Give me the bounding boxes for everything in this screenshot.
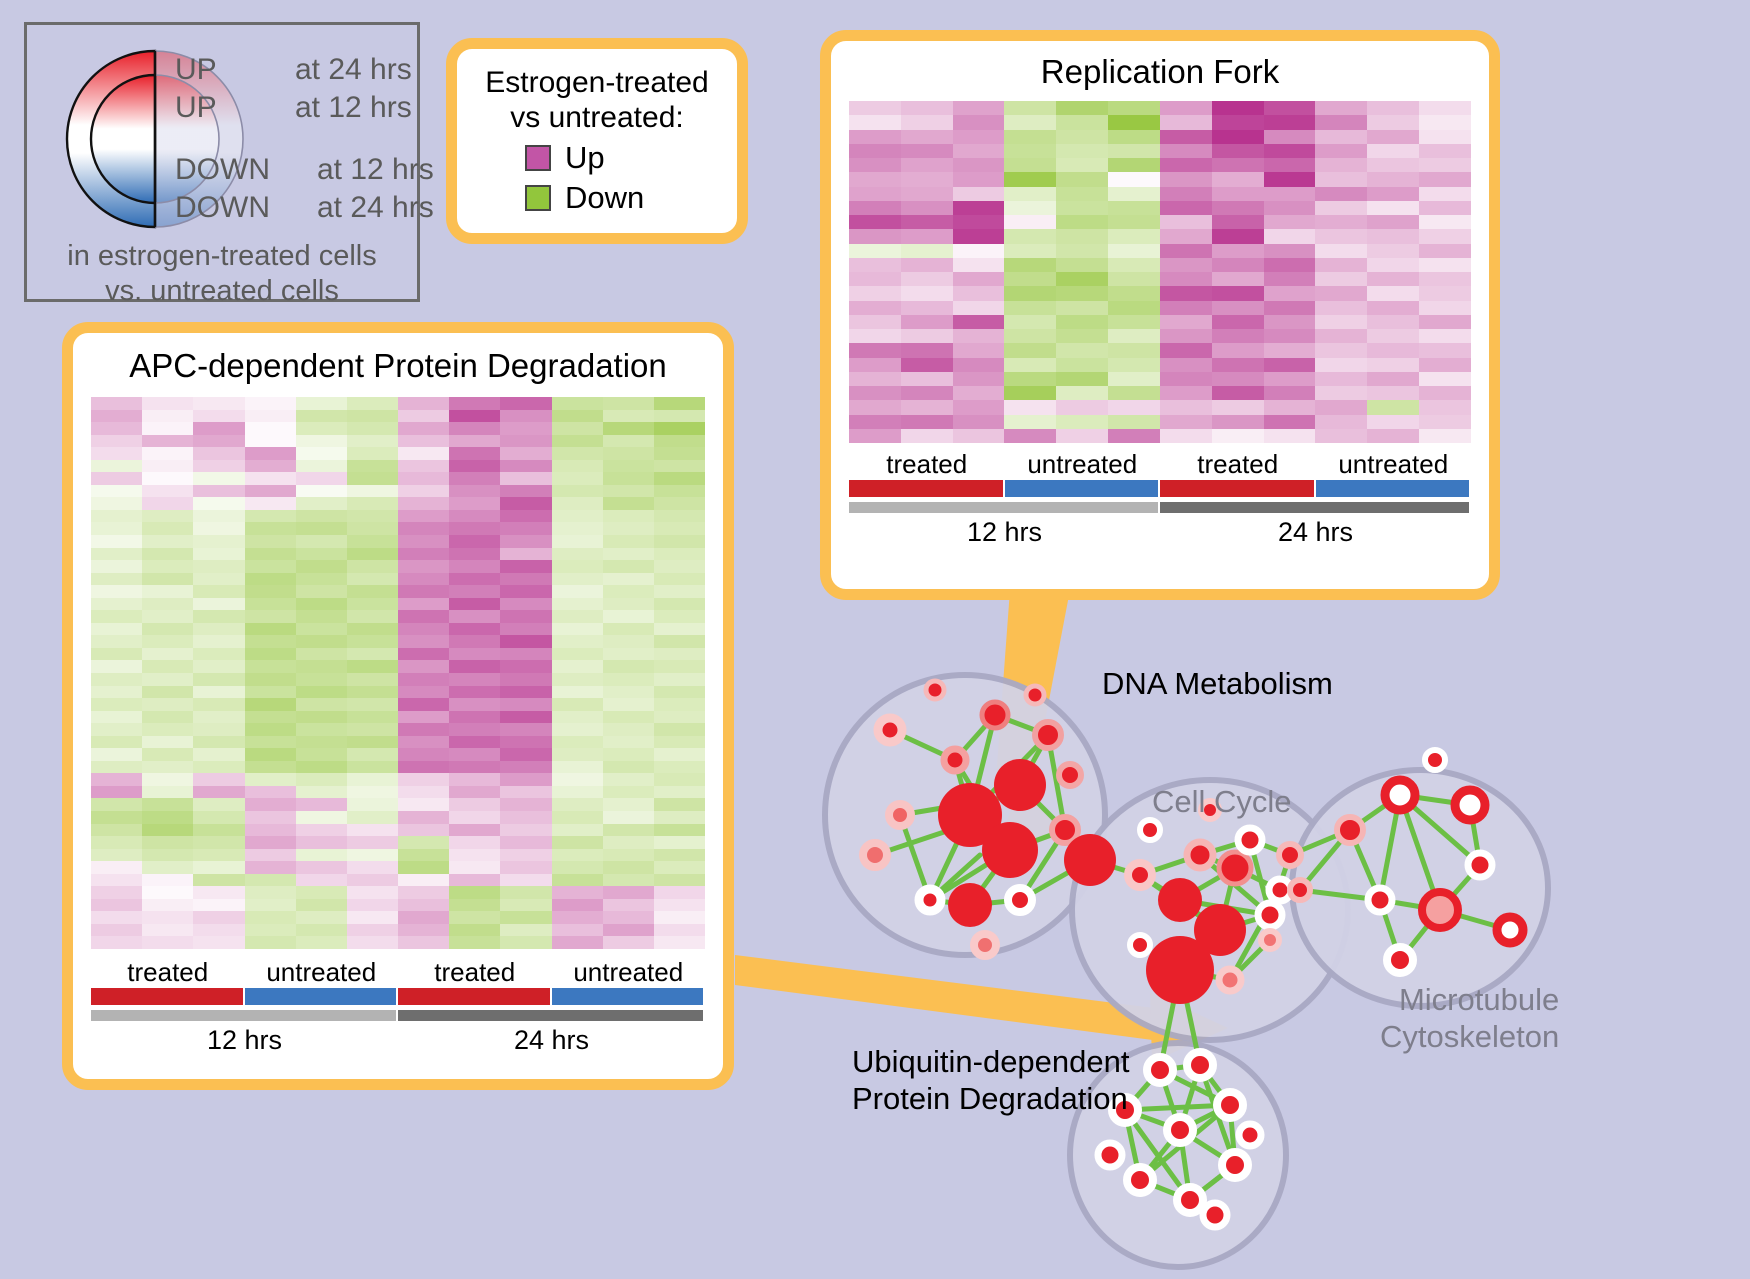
heatmap-cell xyxy=(245,886,296,899)
replication-fork-title: Replication Fork xyxy=(849,53,1471,91)
heatmap-cell xyxy=(193,861,244,874)
heatmap-cell xyxy=(91,811,142,824)
heatmap-cell xyxy=(1212,358,1264,372)
heatmap-cell xyxy=(1419,329,1471,343)
heatmap-cell xyxy=(901,429,953,443)
heatmap-cell xyxy=(142,861,193,874)
heatmap-cell xyxy=(1419,258,1471,272)
heatmap-cell xyxy=(1264,272,1316,286)
heatmap-cell xyxy=(1212,272,1264,286)
heatmap-cell xyxy=(398,435,449,448)
heatmap-cell xyxy=(347,472,398,485)
heatmap-cell xyxy=(654,585,705,598)
heatmap-cell xyxy=(347,673,398,686)
heatmap-cell xyxy=(142,773,193,786)
heatmap-cell xyxy=(1264,130,1316,144)
heatmap-cell xyxy=(654,460,705,473)
heatmap-cell xyxy=(449,773,500,786)
network-node xyxy=(1177,1187,1203,1213)
heatmap-cell xyxy=(347,548,398,561)
sample-label: treated xyxy=(849,449,1005,480)
heatmap-cell xyxy=(193,435,244,448)
cluster-microtubule xyxy=(1292,770,1548,1006)
heatmap-cell xyxy=(347,736,398,749)
heatmap-cell xyxy=(449,861,500,874)
heatmap-cell xyxy=(552,560,603,573)
heatmap-cell xyxy=(91,560,142,573)
heatmap-cell xyxy=(398,610,449,623)
heatmap-cell xyxy=(1160,172,1212,186)
network-node xyxy=(889,804,911,826)
heatmap-cell xyxy=(1160,101,1212,115)
heatmap-cell xyxy=(142,522,193,535)
heatmap-cell xyxy=(500,874,551,887)
heatmap-cell xyxy=(500,648,551,661)
heatmap-cell xyxy=(91,861,142,874)
heatmap-cell xyxy=(1160,343,1212,357)
heatmap-cell xyxy=(654,836,705,849)
heatmap-cell xyxy=(296,447,347,460)
heatmap-cell xyxy=(1419,400,1471,414)
heatmap-cell xyxy=(449,485,500,498)
sample-label: untreated xyxy=(552,957,706,988)
heatmap-cell xyxy=(1160,130,1212,144)
legend-label-down: Down xyxy=(565,180,644,216)
heatmap-cell xyxy=(449,397,500,410)
heatmap-cell xyxy=(603,610,654,623)
heatmap-cell xyxy=(245,924,296,937)
heatmap-cell xyxy=(91,899,142,912)
heatmap-cell xyxy=(245,422,296,435)
heatmap-cell xyxy=(91,447,142,460)
heatmap-cell xyxy=(245,686,296,699)
heatmap-cell xyxy=(398,798,449,811)
heatmap-cell xyxy=(1212,130,1264,144)
heatmap-cell xyxy=(1212,258,1264,272)
heatmap-cell xyxy=(296,560,347,573)
heatmap-cell xyxy=(603,623,654,636)
heatmap-cell xyxy=(552,899,603,912)
heatmap-cell xyxy=(1367,172,1419,186)
heatmap-cell xyxy=(245,711,296,724)
network-node xyxy=(1059,764,1081,786)
heatmap-cell xyxy=(1212,400,1264,414)
heatmap-cell xyxy=(245,773,296,786)
heatmap-cell xyxy=(1264,258,1316,272)
heatmap-cell xyxy=(1315,301,1367,315)
heatmap-cell xyxy=(449,711,500,724)
heatmap-cell xyxy=(1212,201,1264,215)
heatmap-cell xyxy=(1419,172,1471,186)
heatmap-cell xyxy=(849,244,901,258)
heatmap-cell xyxy=(91,836,142,849)
heatmap-cell xyxy=(552,485,603,498)
heatmap-cell xyxy=(849,315,901,329)
heatmap-cell xyxy=(1212,415,1264,429)
network-node xyxy=(1222,1152,1248,1178)
heatmap-cell xyxy=(1367,101,1419,115)
legend-item-down: Down xyxy=(457,180,737,216)
heatmap-cell xyxy=(603,686,654,699)
heatmap-cell xyxy=(552,460,603,473)
heatmap-cell xyxy=(245,861,296,874)
network-node xyxy=(1337,817,1363,843)
heatmap-cell xyxy=(901,158,953,172)
heatmap-cell xyxy=(245,761,296,774)
heatmap-cell xyxy=(500,510,551,523)
key-direction-2: DOWN xyxy=(175,153,270,187)
heatmap-cell xyxy=(500,560,551,573)
heatmap-cell xyxy=(654,648,705,661)
heatmap-cell xyxy=(398,447,449,460)
heatmap-cell xyxy=(449,698,500,711)
heatmap-cell xyxy=(1315,115,1367,129)
heatmap-cell xyxy=(296,911,347,924)
heatmap-cell xyxy=(91,422,142,435)
heatmap-cell xyxy=(449,723,500,736)
heatmap-cell xyxy=(347,698,398,711)
heatmap-cell xyxy=(552,510,603,523)
heatmap-cell xyxy=(552,824,603,837)
heatmap-cell xyxy=(849,358,901,372)
heatmap-cell xyxy=(142,598,193,611)
heatmap-cell xyxy=(347,497,398,510)
heatmap-cell xyxy=(552,874,603,887)
key-direction-3: DOWN xyxy=(175,191,270,225)
network-node xyxy=(1290,880,1310,900)
heatmap-cell xyxy=(1108,386,1160,400)
network-node xyxy=(1217,1092,1243,1118)
network-node xyxy=(948,883,992,927)
replication-fork-time-labels: 12 hrs24 hrs xyxy=(849,517,1471,548)
heatmap-cell xyxy=(347,861,398,874)
heatmap-cell xyxy=(1056,301,1108,315)
network-node xyxy=(982,822,1038,878)
network-node xyxy=(1187,842,1213,868)
heatmap-cell xyxy=(1367,115,1419,129)
heatmap-cell xyxy=(91,472,142,485)
heatmap-cell xyxy=(398,497,449,510)
heatmap-cell xyxy=(603,861,654,874)
heatmap-cell xyxy=(1056,415,1108,429)
heatmap-cell xyxy=(849,329,901,343)
heatmap-cell xyxy=(142,874,193,887)
heatmap-cell xyxy=(1264,215,1316,229)
heatmap-cell xyxy=(398,811,449,824)
heatmap-cell xyxy=(142,836,193,849)
legend-title-line1: Estrogen-treated xyxy=(467,65,727,100)
heatmap-cell xyxy=(91,460,142,473)
network-node xyxy=(1052,817,1078,843)
heatmap-cell xyxy=(654,422,705,435)
heatmap-cell xyxy=(91,660,142,673)
heatmap-cell xyxy=(552,660,603,673)
heatmap-cell xyxy=(347,535,398,548)
heatmap-cell xyxy=(500,460,551,473)
heatmap-cell xyxy=(1264,229,1316,243)
heatmap-cell xyxy=(1056,372,1108,386)
heatmap-cell xyxy=(142,849,193,862)
heatmap-cell xyxy=(193,811,244,824)
heatmap-cell xyxy=(1056,201,1108,215)
heatmap-cell xyxy=(1056,187,1108,201)
heatmap-cell xyxy=(347,635,398,648)
heatmap-cell xyxy=(193,472,244,485)
heatmap-cell xyxy=(500,861,551,874)
heatmap-cell xyxy=(91,485,142,498)
heatmap-cell xyxy=(1419,215,1471,229)
legend-item-up: Up xyxy=(457,140,737,176)
heatmap-cell xyxy=(1160,229,1212,243)
heatmap-cell xyxy=(1212,286,1264,300)
heatmap-cell xyxy=(654,899,705,912)
replication-fork-heatmap xyxy=(849,101,1471,443)
heatmap-cell xyxy=(296,723,347,736)
heatmap-cell xyxy=(1315,329,1367,343)
heatmap-cell xyxy=(296,610,347,623)
heatmap-cell xyxy=(1056,158,1108,172)
heatmap-cell xyxy=(347,485,398,498)
heatmap-cell xyxy=(296,435,347,448)
heatmap-cell xyxy=(500,886,551,899)
network-node xyxy=(974,934,996,956)
heatmap-cell xyxy=(1264,187,1316,201)
heatmap-cell xyxy=(1419,130,1471,144)
heatmap-cell xyxy=(500,773,551,786)
heatmap-cell xyxy=(654,686,705,699)
heatmap-cell xyxy=(1264,315,1316,329)
heatmap-cell xyxy=(1367,329,1419,343)
heatmap-cell xyxy=(1160,358,1212,372)
heatmap-cell xyxy=(245,899,296,912)
heatmap-cell xyxy=(603,585,654,598)
heatmap-cell xyxy=(654,635,705,648)
heatmap-cell xyxy=(603,397,654,410)
heatmap-cell xyxy=(193,648,244,661)
heatmap-cell xyxy=(1419,386,1471,400)
heatmap-cell xyxy=(654,773,705,786)
heatmap-cell xyxy=(1315,372,1367,386)
key-time-0: at 24 hrs xyxy=(295,53,412,87)
heatmap-cell xyxy=(654,924,705,937)
heatmap-cell xyxy=(296,899,347,912)
heatmap-cell xyxy=(1056,329,1108,343)
heatmap-cell xyxy=(1367,201,1419,215)
heatmap-cell xyxy=(901,400,953,414)
heatmap-cell xyxy=(142,548,193,561)
heatmap-cell xyxy=(552,886,603,899)
heatmap-cell xyxy=(1004,315,1056,329)
cluster-label-ubiquitin-dependent-protein-degradation: Ubiquitin-dependent Protein Degradation xyxy=(852,1043,1130,1117)
heatmap-cell xyxy=(449,410,500,423)
legend-swatch-up xyxy=(525,145,551,171)
heatmap-cell xyxy=(654,522,705,535)
heatmap-cell xyxy=(91,798,142,811)
heatmap-cell xyxy=(193,548,244,561)
heatmap-cell xyxy=(91,435,142,448)
replication-fork-time-bar xyxy=(849,502,1471,513)
heatmap-cell xyxy=(1212,329,1264,343)
heatmap-cell xyxy=(347,748,398,761)
heatmap-cell xyxy=(1212,101,1264,115)
heatmap-cell xyxy=(449,824,500,837)
heatmap-cell xyxy=(296,836,347,849)
heatmap-cell xyxy=(347,610,398,623)
heatmap-cell xyxy=(1004,101,1056,115)
heatmap-cell xyxy=(91,522,142,535)
heatmap-cell xyxy=(142,798,193,811)
heatmap-cell xyxy=(1056,144,1108,158)
heatmap-cell xyxy=(1264,372,1316,386)
heatmap-cell xyxy=(193,849,244,862)
heatmap-cell xyxy=(849,415,901,429)
heatmap-cell xyxy=(849,158,901,172)
heatmap-cell xyxy=(1160,244,1212,258)
heatmap-cell xyxy=(552,748,603,761)
heatmap-cell xyxy=(398,936,449,949)
heatmap-cell xyxy=(654,510,705,523)
heatmap-cell xyxy=(901,301,953,315)
treatment-color-segment xyxy=(398,988,552,1005)
heatmap-cell xyxy=(245,911,296,924)
heatmap-cell xyxy=(1004,187,1056,201)
heatmap-cell xyxy=(91,623,142,636)
heatmap-cell xyxy=(552,535,603,548)
heatmap-cell xyxy=(1108,429,1160,443)
heatmap-cell xyxy=(953,400,1005,414)
apc-degradation-sample-labels: treateduntreatedtreateduntreated xyxy=(91,957,705,988)
heatmap-cell xyxy=(1160,115,1212,129)
time-color-segment xyxy=(849,502,1160,513)
heatmap-cell xyxy=(1315,144,1367,158)
heatmap-cell xyxy=(398,686,449,699)
apc-degradation-heatmap xyxy=(91,397,705,949)
heatmap-cell xyxy=(91,874,142,887)
heatmap-cell xyxy=(193,610,244,623)
heatmap-cell xyxy=(1056,429,1108,443)
heatmap-cell xyxy=(901,343,953,357)
network-node xyxy=(1147,1057,1173,1083)
heatmap-cell xyxy=(1004,229,1056,243)
heatmap-cell xyxy=(296,472,347,485)
heatmap-cell xyxy=(142,535,193,548)
network-node xyxy=(1422,892,1458,928)
heatmap-cell xyxy=(953,301,1005,315)
heatmap-cell xyxy=(142,811,193,824)
heatmap-cell xyxy=(398,824,449,837)
heatmap-cell xyxy=(500,899,551,912)
heatmap-cell xyxy=(849,101,901,115)
heatmap-cell xyxy=(347,598,398,611)
heatmap-cell xyxy=(1367,130,1419,144)
color-key-footer: in estrogen-treated cells vs. untreated … xyxy=(27,239,417,310)
heatmap-cell xyxy=(142,698,193,711)
heatmap-cell xyxy=(1160,158,1212,172)
heatmap-cell xyxy=(1108,244,1160,258)
heatmap-cell xyxy=(849,172,901,186)
heatmap-cell xyxy=(1160,286,1212,300)
heatmap-cell xyxy=(901,372,953,386)
heatmap-cell xyxy=(142,472,193,485)
heatmap-cell xyxy=(500,422,551,435)
network-node xyxy=(1128,863,1152,887)
heatmap-cell xyxy=(245,497,296,510)
heatmap-cell xyxy=(296,535,347,548)
heatmap-cell xyxy=(91,736,142,749)
heatmap-cell xyxy=(500,472,551,485)
heatmap-cell xyxy=(1056,400,1108,414)
heatmap-cell xyxy=(347,447,398,460)
heatmap-cell xyxy=(500,686,551,699)
heatmap-cell xyxy=(1315,244,1367,258)
heatmap-cell xyxy=(1056,286,1108,300)
heatmap-cell xyxy=(347,811,398,824)
heatmap-cell xyxy=(91,610,142,623)
heatmap-cell xyxy=(1004,115,1056,129)
heatmap-cell xyxy=(398,535,449,548)
heatmap-cell xyxy=(449,447,500,460)
heatmap-cell xyxy=(296,924,347,937)
heatmap-cell xyxy=(1160,372,1212,386)
network-node xyxy=(1064,834,1116,886)
heatmap-cell xyxy=(552,635,603,648)
heatmap-cell xyxy=(142,447,193,460)
heatmap-cell xyxy=(91,510,142,523)
heatmap-cell xyxy=(398,598,449,611)
heatmap-cell xyxy=(552,522,603,535)
heatmap-cell xyxy=(1108,187,1160,201)
heatmap-cell xyxy=(449,560,500,573)
heatmap-cell xyxy=(603,836,654,849)
heatmap-cell xyxy=(1367,229,1419,243)
heatmap-cell xyxy=(193,773,244,786)
heatmap-cell xyxy=(500,573,551,586)
heatmap-cell xyxy=(1419,286,1471,300)
heatmap-cell xyxy=(193,874,244,887)
heatmap-cell xyxy=(552,698,603,711)
heatmap-cell xyxy=(603,510,654,523)
heatmap-cell xyxy=(449,435,500,448)
heatmap-cell xyxy=(1160,329,1212,343)
heatmap-cell xyxy=(603,924,654,937)
time-color-segment xyxy=(91,1010,398,1021)
heatmap-cell xyxy=(1315,130,1367,144)
heatmap-cell xyxy=(603,786,654,799)
heatmap-cell xyxy=(953,315,1005,329)
heatmap-cell xyxy=(654,886,705,899)
heatmap-cell xyxy=(500,660,551,673)
heatmap-cell xyxy=(347,560,398,573)
heatmap-cell xyxy=(552,773,603,786)
treatment-color-segment xyxy=(1160,480,1316,497)
network-node xyxy=(1146,936,1214,1004)
heatmap-cell xyxy=(603,410,654,423)
heatmap-cell xyxy=(193,623,244,636)
heatmap-cell xyxy=(603,886,654,899)
heatmap-cell xyxy=(1056,172,1108,186)
heatmap-cell xyxy=(654,874,705,887)
heatmap-cell xyxy=(142,623,193,636)
heatmap-cell xyxy=(1160,272,1212,286)
heatmap-cell xyxy=(1212,115,1264,129)
heatmap-cell xyxy=(296,711,347,724)
heatmap-cell xyxy=(953,158,1005,172)
heatmap-cell xyxy=(398,698,449,711)
heatmap-cell xyxy=(1212,372,1264,386)
heatmap-cell xyxy=(296,660,347,673)
heatmap-cell xyxy=(347,422,398,435)
heatmap-cell xyxy=(500,635,551,648)
